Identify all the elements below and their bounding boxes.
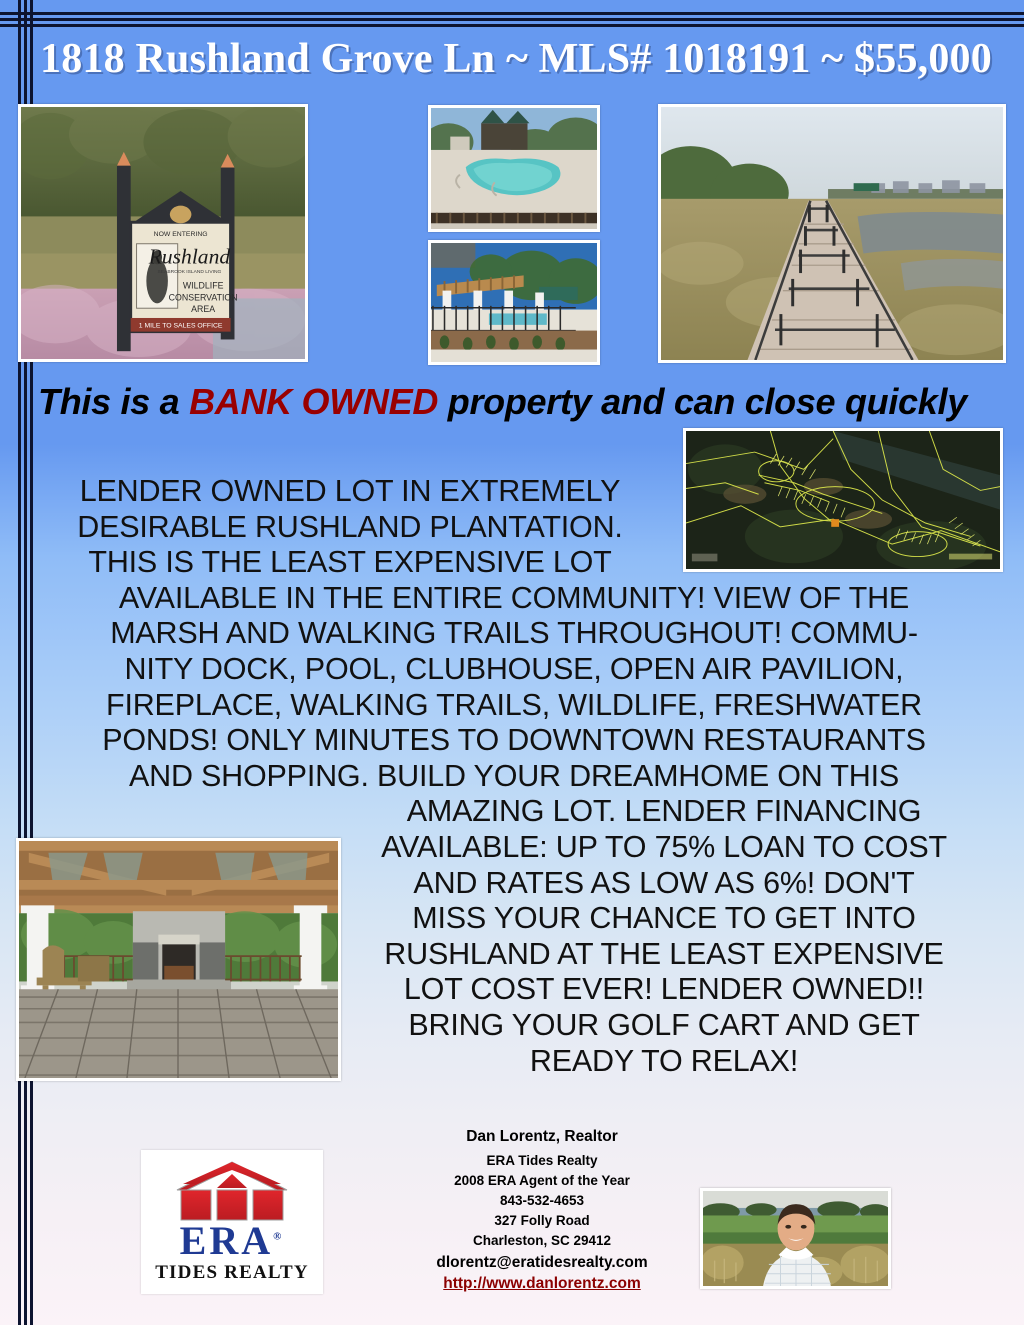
svg-text:Rushland: Rushland <box>148 244 231 268</box>
description-line: RUSHLAND AT THE LEAST EXPENSIVE <box>360 937 968 973</box>
flyer-page: 1818 Rushland Grove Ln ~ MLS# 1018191 ~ … <box>0 0 1024 1325</box>
agent-phone[interactable]: 843-532-4653 <box>392 1191 692 1211</box>
svg-text:1 MILE TO SALES OFFICE: 1 MILE TO SALES OFFICE <box>139 323 223 330</box>
svg-text:CONSERVATION: CONSERVATION <box>169 292 238 302</box>
photo-agent-headshot <box>700 1188 891 1289</box>
agent-email[interactable]: dlorentz@eratidesrealty.com <box>392 1254 692 1272</box>
agent-headshot-illustration <box>703 1191 888 1286</box>
pavilion-pool-illustration <box>431 243 597 362</box>
svg-text:SEABROOK ISLAND LIVING: SEABROOK ISLAND LIVING <box>158 269 222 275</box>
era-tides-realty-logo: ERA® TIDES REALTY <box>141 1150 323 1294</box>
page-title: 1818 Rushland Grove Ln ~ MLS# 1018191 ~ … <box>30 35 992 83</box>
description-line: LENDER OWNED LOT IN EXTREMELY <box>60 474 640 510</box>
era-tagline: TIDES REALTY <box>155 1262 309 1284</box>
description-line: READY TO RELAX! <box>360 1044 968 1080</box>
description-line: AVAILABLE: UP TO 75% LOAN TO COST <box>360 830 968 866</box>
description-line: MARSH AND WALKING TRAILS THROUGHOUT! COM… <box>60 616 968 652</box>
entrance-sign-illustration: NOW ENTERING Rushland SEABROOK ISLAND LI… <box>21 107 305 359</box>
frame-top-line-2 <box>0 18 1024 21</box>
community-pool-illustration <box>431 108 597 229</box>
photo-community-pool <box>428 105 600 232</box>
description-line: AVAILABLE IN THE ENTIRE COMMUNITY! VIEW … <box>60 581 968 617</box>
description-line: FIREPLACE, WALKING TRAILS, WILDLIFE, FRE… <box>60 688 968 724</box>
description-line: THIS IS THE LEAST EXPENSIVE LOT <box>60 545 640 581</box>
photo-pavilion-pool <box>428 240 600 365</box>
svg-text:WILDLIFE: WILDLIFE <box>183 281 224 291</box>
frame-top-line-1 <box>0 12 1024 15</box>
photo-pavilion-interior <box>16 838 341 1081</box>
photo-marsh-boardwalk <box>658 104 1006 363</box>
title-banner: 1818 Rushland Grove Ln ~ MLS# 1018191 ~ … <box>30 27 1024 90</box>
description-line: AND RATES AS LOW AS 6%! DON'T <box>360 866 968 902</box>
headline-suffix: property and can close quickly <box>438 381 967 422</box>
description-line: MISS YOUR CHANCE TO GET INTO <box>360 901 968 937</box>
marsh-boardwalk-illustration <box>661 107 1003 360</box>
pavilion-interior-illustration <box>19 841 338 1078</box>
description-line: AMAZING LOT. LENDER FINANCING <box>360 794 968 830</box>
agent-website-link[interactable]: http://www.danlorentz.com <box>392 1275 692 1293</box>
bank-owned-headline: This is a BANK OWNED property and can cl… <box>38 381 1018 423</box>
headline-prefix: This is a <box>38 381 189 422</box>
registered-mark: ® <box>273 1231 284 1243</box>
agent-name: Dan Lorentz, Realtor <box>392 1128 692 1146</box>
description-line: BRING YOUR GOLF CART AND GET <box>360 1008 968 1044</box>
headline-emphasis: BANK OWNED <box>189 381 438 422</box>
svg-text:AREA: AREA <box>191 304 215 314</box>
description-line: PONDS! ONLY MINUTES TO DOWNTOWN RESTAURA… <box>60 723 968 759</box>
description-line: LOT COST EVER! LENDER OWNED!! <box>360 972 968 1008</box>
agent-street: 327 Folly Road <box>392 1211 692 1231</box>
description-line: DESIRABLE RUSHLAND PLANTATION. <box>60 510 640 546</box>
agent-company: ERA Tides Realty <box>392 1151 692 1171</box>
agent-contact-block: Dan Lorentz, Realtor ERA Tides Realty 20… <box>392 1128 692 1293</box>
svg-text:NOW ENTERING: NOW ENTERING <box>154 231 208 238</box>
era-brand-text: ERA® <box>180 1222 285 1260</box>
agent-city: Charleston, SC 29412 <box>392 1231 692 1251</box>
era-brand-label: ERA <box>180 1218 273 1263</box>
photo-entrance-sign: NOW ENTERING Rushland SEABROOK ISLAND LI… <box>18 104 308 362</box>
description-line: NITY DOCK, POOL, CLUBHOUSE, OPEN AIR PAV… <box>60 652 968 688</box>
description-line: AND SHOPPING. BUILD YOUR DREAMHOME ON TH… <box>60 759 968 795</box>
era-house-roof-icon <box>173 1160 291 1226</box>
agent-award: 2008 ERA Agent of the Year <box>392 1171 692 1191</box>
